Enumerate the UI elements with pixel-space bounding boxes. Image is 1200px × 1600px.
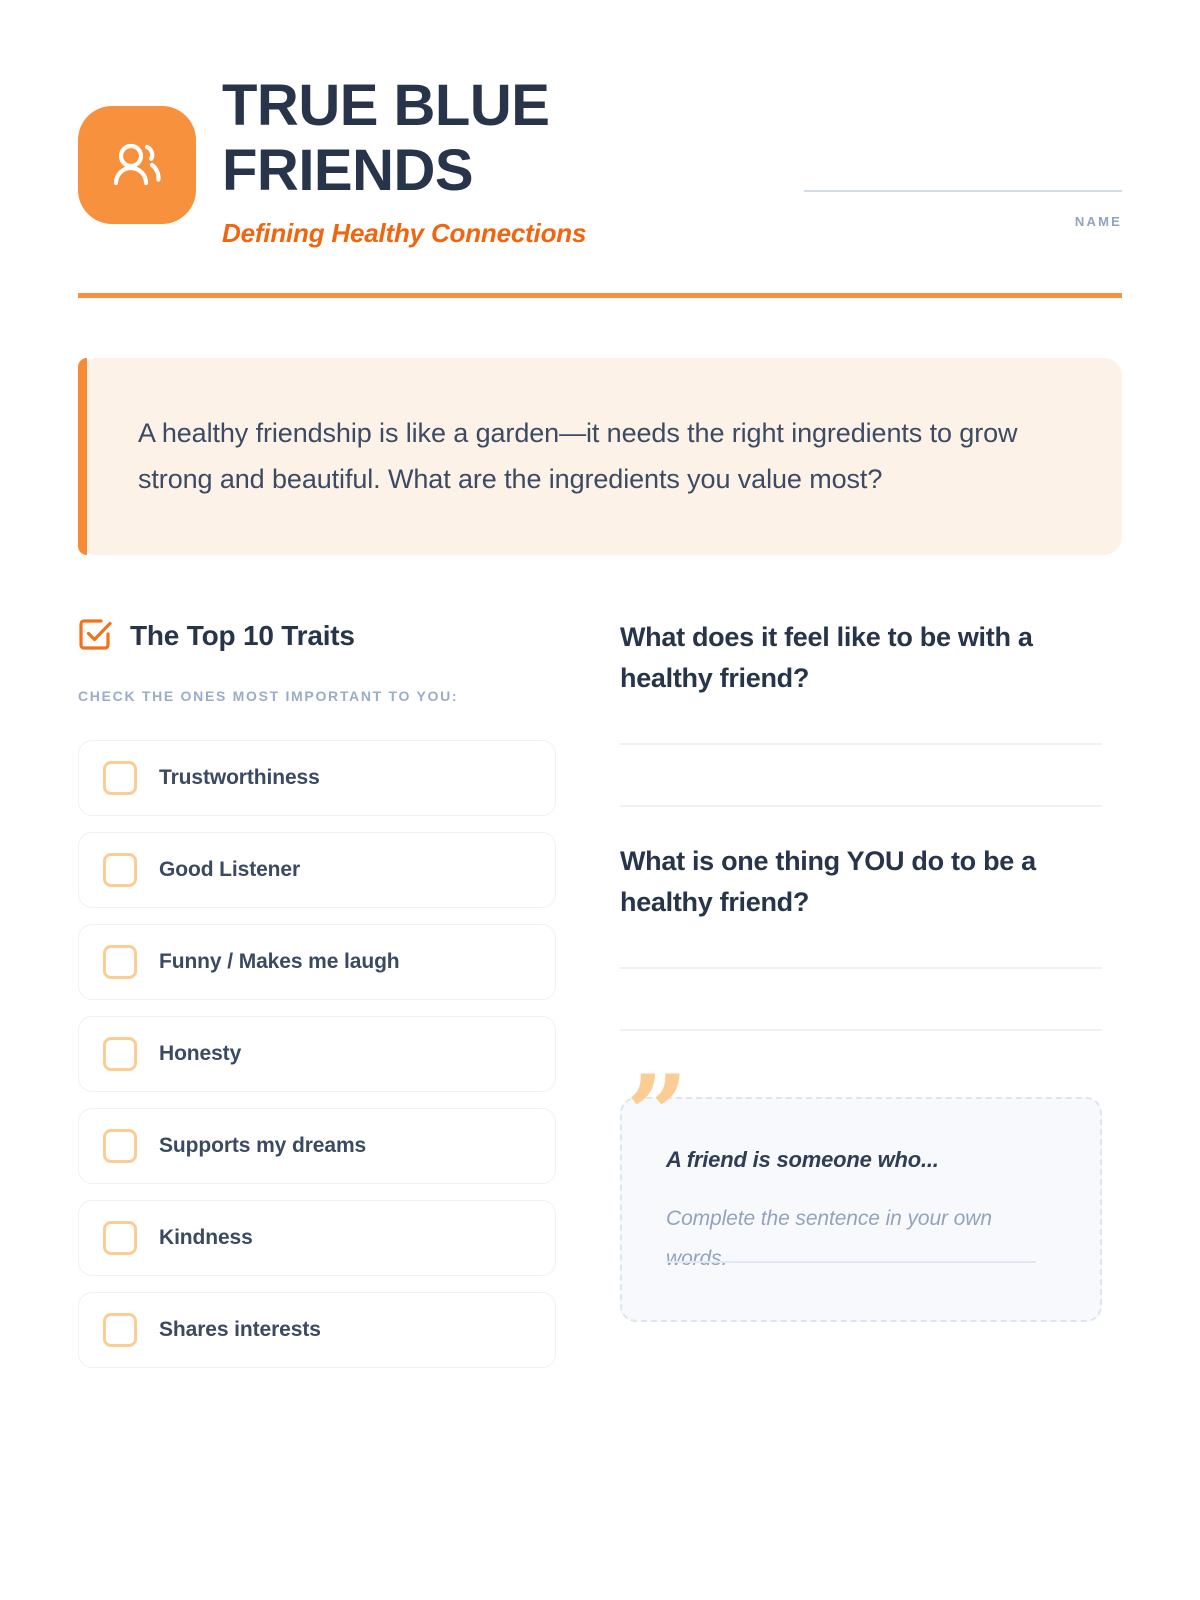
trait-label: Good Listener bbox=[159, 858, 300, 882]
quote-write-line[interactable] bbox=[666, 1261, 1036, 1263]
trait-label: Shares interests bbox=[159, 1318, 321, 1342]
answer-lines[interactable] bbox=[620, 967, 1102, 1031]
traits-heading: The Top 10 Traits bbox=[78, 617, 556, 656]
answer-line[interactable] bbox=[620, 1029, 1102, 1031]
trait-checkbox[interactable] bbox=[103, 1221, 137, 1255]
question-block: What does it feel like to be with a heal… bbox=[620, 617, 1102, 807]
trait-checkbox[interactable] bbox=[103, 1037, 137, 1071]
page-header: TRUE BLUE FRIENDS Defining Healthy Conne… bbox=[78, 0, 1122, 249]
trait-checkbox[interactable] bbox=[103, 761, 137, 795]
answer-line[interactable] bbox=[620, 743, 1102, 745]
quote-answer-area[interactable]: Complete the sentence in your own words. bbox=[666, 1199, 1058, 1280]
intro-accent-bar bbox=[78, 358, 87, 555]
quote-card[interactable]: ” A friend is someone who... Complete th… bbox=[620, 1097, 1102, 1322]
traits-column: The Top 10 Traits CHECK THE ONES MOST IM… bbox=[78, 617, 556, 1384]
trait-row[interactable]: Trustworthiness bbox=[78, 740, 556, 816]
traits-list: Trustworthiness Good Listener Funny / Ma… bbox=[78, 740, 556, 1368]
quote-prompt: A friend is someone who... bbox=[666, 1147, 1058, 1173]
traits-subtitle: CHECK THE ONES MOST IMPORTANT TO YOU: bbox=[78, 684, 548, 710]
answer-line[interactable] bbox=[620, 805, 1102, 807]
checked-box-icon bbox=[78, 617, 112, 656]
brand-text: TRUE BLUE FRIENDS Defining Healthy Conne… bbox=[222, 72, 642, 249]
intro-callout: A healthy friendship is like a garden—it… bbox=[78, 358, 1122, 555]
brand-lockup: TRUE BLUE FRIENDS Defining Healthy Conne… bbox=[78, 72, 642, 249]
question-block: What is one thing YOU do to be a healthy… bbox=[620, 841, 1102, 1031]
trait-label: Funny / Makes me laugh bbox=[159, 950, 400, 974]
name-input-line[interactable] bbox=[804, 190, 1122, 192]
trait-row[interactable]: Supports my dreams bbox=[78, 1108, 556, 1184]
trait-row[interactable]: Honesty bbox=[78, 1016, 556, 1092]
answer-lines[interactable] bbox=[620, 743, 1102, 807]
header-divider bbox=[78, 293, 1122, 298]
trait-label: Kindness bbox=[159, 1226, 253, 1250]
brand-tagline: Defining Healthy Connections bbox=[222, 218, 642, 249]
intro-text: A healthy friendship is like a garden—it… bbox=[138, 410, 1064, 503]
trait-row[interactable]: Shares interests bbox=[78, 1292, 556, 1368]
trait-checkbox[interactable] bbox=[103, 853, 137, 887]
brand-logo bbox=[78, 106, 196, 224]
questions-column: What does it feel like to be with a heal… bbox=[620, 617, 1102, 1322]
worksheet-page: TRUE BLUE FRIENDS Defining Healthy Conne… bbox=[0, 0, 1200, 1600]
question-title: What is one thing YOU do to be a healthy… bbox=[620, 841, 1102, 923]
traits-title: The Top 10 Traits bbox=[130, 620, 355, 652]
name-label: NAME bbox=[804, 214, 1122, 229]
trait-checkbox[interactable] bbox=[103, 945, 137, 979]
question-title: What does it feel like to be with a heal… bbox=[620, 617, 1102, 699]
trait-label: Honesty bbox=[159, 1042, 241, 1066]
trait-row[interactable]: Good Listener bbox=[78, 832, 556, 908]
name-field[interactable]: NAME bbox=[804, 190, 1122, 229]
answer-line[interactable] bbox=[620, 967, 1102, 969]
trait-row[interactable]: Kindness bbox=[78, 1200, 556, 1276]
trait-label: Trustworthiness bbox=[159, 766, 320, 790]
brand-title: TRUE BLUE FRIENDS bbox=[222, 74, 642, 204]
trait-checkbox[interactable] bbox=[103, 1313, 137, 1347]
trait-label: Supports my dreams bbox=[159, 1134, 366, 1158]
two-people-friends-icon bbox=[105, 133, 169, 197]
quote-placeholder: Complete the sentence in your own words. bbox=[666, 1199, 1046, 1280]
trait-row[interactable]: Funny / Makes me laugh bbox=[78, 924, 556, 1000]
content-columns: The Top 10 Traits CHECK THE ONES MOST IM… bbox=[78, 617, 1122, 1384]
trait-checkbox[interactable] bbox=[103, 1129, 137, 1163]
